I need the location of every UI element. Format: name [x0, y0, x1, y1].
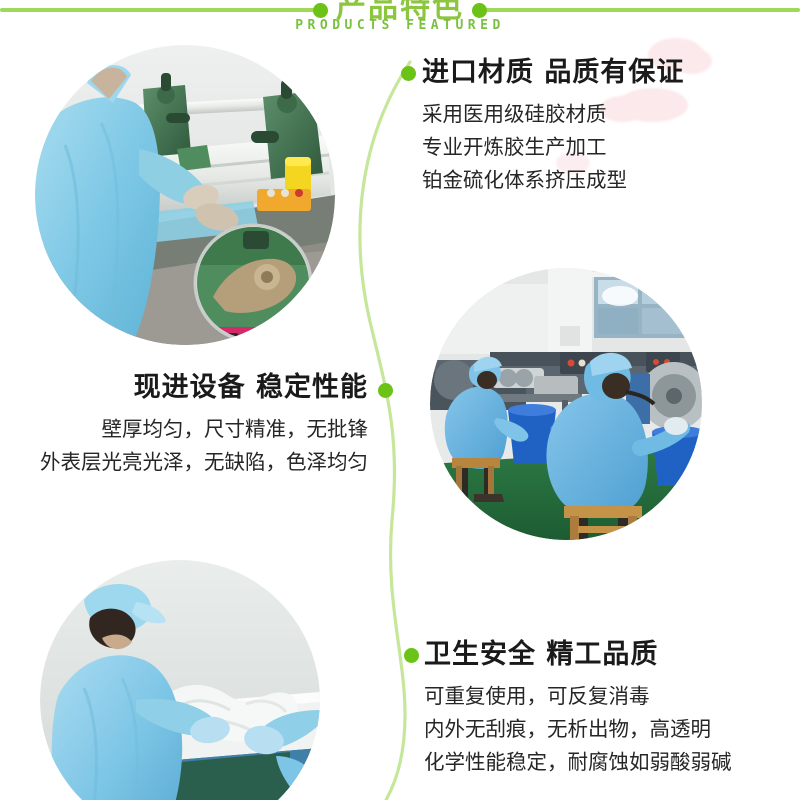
page-title-en: PRODUCTS FEATURED [0, 18, 800, 33]
feature-block-advanced-equipment: 现进设备 稳定性能 壁厚均匀，尺寸精准，无批锋 外表层光亮光泽，无缺陷，色泽均匀 [0, 373, 368, 479]
photo-mixing-mill [35, 45, 335, 345]
feature-line-1-3: 铂金硫化体系挤压成型 [422, 164, 684, 197]
feature-heading-2: 现进设备 稳定性能 [0, 373, 368, 403]
feature-line-2-1: 壁厚均匀，尺寸精准，无批锋 [0, 413, 368, 446]
feature-block-hygiene-safety: 卫生安全 精工品质 可重复使用，可反复消毒 内外无刮痕，无析出物，高透明 化学性… [424, 640, 732, 779]
photo-inspection-packing [40, 560, 320, 800]
feature-bullet-3 [404, 648, 419, 663]
section-header: 产品特色 PRODUCTS FEATURED [0, 0, 800, 46]
feature-lines-3: 可重复使用，可反复消毒 内外无刮痕，无析出物，高透明 化学性能稳定，耐腐蚀如弱酸… [424, 680, 732, 780]
photo-extrusion-line [430, 268, 702, 540]
feature-line-3-1: 可重复使用，可反复消毒 [424, 680, 732, 713]
feature-heading-1: 进口材质 品质有保证 [422, 58, 684, 88]
feature-line-1-1: 采用医用级硅胶材质 [422, 98, 684, 131]
feature-bullet-2 [378, 383, 393, 398]
feature-lines-1: 采用医用级硅胶材质 专业开炼胶生产加工 铂金硫化体系挤压成型 [422, 98, 684, 198]
feature-line-3-3: 化学性能稳定，耐腐蚀如弱酸弱碱 [424, 746, 732, 779]
feature-line-2-2: 外表层光亮光泽，无缺陷，色泽均匀 [0, 446, 368, 479]
feature-heading-3: 卫生安全 精工品质 [424, 640, 732, 670]
feature-line-3-2: 内外无刮痕，无析出物，高透明 [424, 713, 732, 746]
feature-line-1-2: 专业开炼胶生产加工 [422, 131, 684, 164]
feature-lines-2: 壁厚均匀，尺寸精准，无批锋 外表层光亮光泽，无缺陷，色泽均匀 [0, 413, 368, 479]
feature-block-imported-material: 进口材质 品质有保证 采用医用级硅胶材质 专业开炼胶生产加工 铂金硫化体系挤压成… [422, 58, 684, 197]
feature-bullet-1 [401, 66, 416, 81]
product-features-page: 产品特色 PRODUCTS FEATURED [0, 0, 800, 800]
